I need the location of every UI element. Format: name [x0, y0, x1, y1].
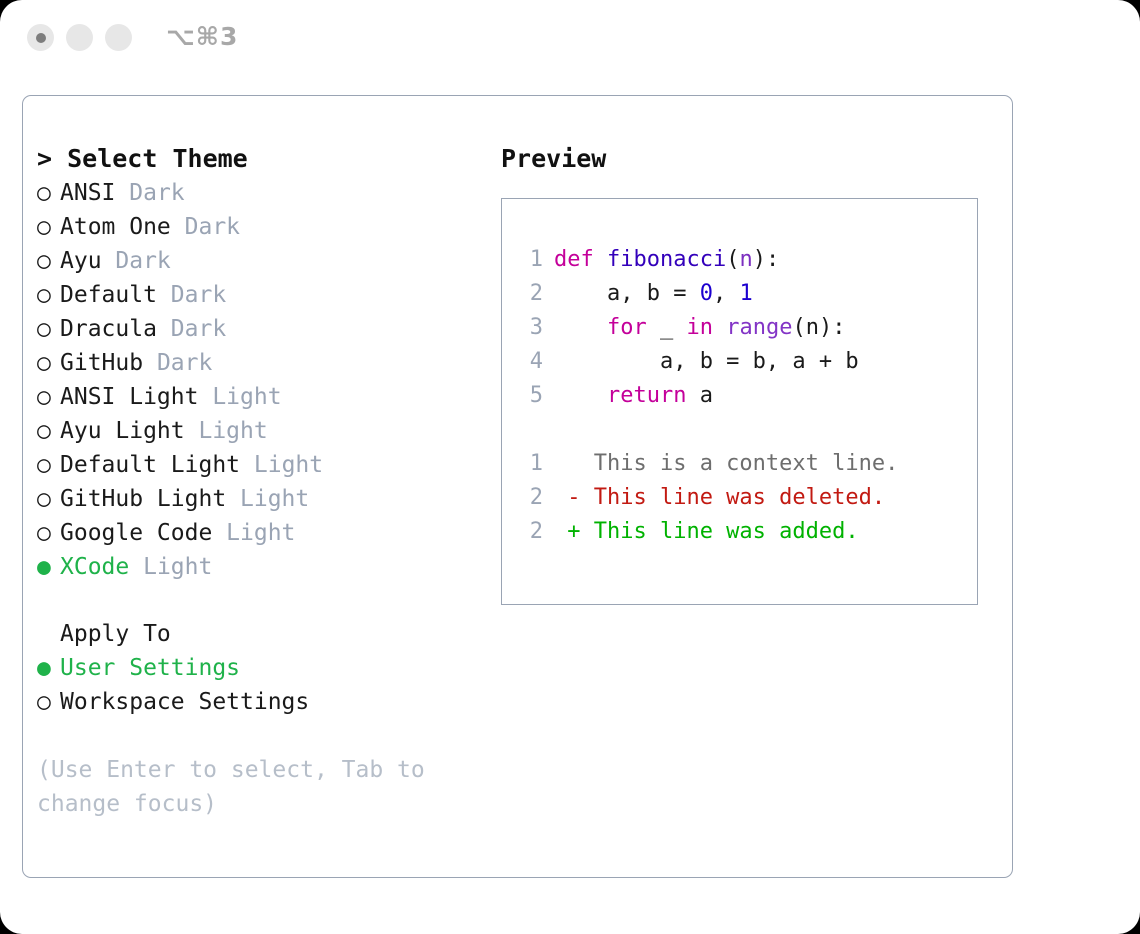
theme-name: GitHub — [60, 346, 157, 380]
code-token: fibonacci — [607, 247, 726, 272]
radio-unselected-icon: ○ — [37, 346, 60, 380]
theme-list-item[interactable]: ○ANSI Dark — [37, 176, 507, 210]
theme-variant: Light — [198, 414, 267, 448]
radio-unselected-icon: ○ — [37, 312, 60, 346]
line-number: 2 — [519, 515, 543, 549]
code-token: a, b = b, a + b — [554, 349, 859, 374]
theme-list-item[interactable]: ○Ayu Dark — [37, 244, 507, 278]
diff-line: 2 - This line was deleted. — [519, 481, 971, 515]
theme-name: Default Light — [60, 448, 254, 482]
theme-variant: Light — [240, 482, 309, 516]
app-window: ⌥⌘3 > Select Theme ○ANSI Dark○Atom One D… — [0, 0, 1140, 934]
window-minimize-dot[interactable] — [66, 24, 93, 51]
code-token: in — [686, 315, 713, 340]
apply-to-section: Apply To ●User Settings○Workspace Settin… — [37, 617, 507, 719]
code-line-text: for _ in range(n): — [554, 311, 845, 345]
code-token: , — [713, 281, 740, 306]
code-line-text: a, b = b, a + b — [554, 345, 859, 379]
radio-unselected-icon: ○ — [37, 244, 60, 278]
code-line: 4 a, b = b, a + b — [519, 345, 971, 379]
diff-line-text: + This line was added. — [554, 515, 859, 549]
apply-to-label: Workspace Settings — [60, 685, 309, 719]
theme-list-item[interactable]: ○Ayu Light Light — [37, 414, 507, 448]
radio-unselected-icon: ○ — [37, 414, 60, 448]
code-token: range — [726, 315, 792, 340]
code-token: 1 — [739, 281, 752, 306]
line-number: 1 — [519, 243, 543, 277]
diff-line: 1 This is a context line. — [519, 447, 971, 481]
theme-name: GitHub Light — [60, 482, 240, 516]
theme-name: XCode — [60, 550, 143, 584]
apply-to-heading: Apply To — [37, 617, 507, 651]
line-number: 3 — [519, 311, 543, 345]
theme-variant: Dark — [185, 210, 240, 244]
code-line: 2 a, b = 0, 1 — [519, 277, 971, 311]
theme-name: ANSI Light — [60, 380, 212, 414]
theme-variant: Light — [143, 550, 212, 584]
apply-to-option[interactable]: ○Workspace Settings — [37, 685, 507, 719]
theme-picker-panel: > Select Theme ○ANSI Dark○Atom One Dark○… — [22, 95, 1013, 878]
theme-list-item[interactable]: ●XCode Light — [37, 550, 507, 584]
theme-list-item[interactable]: ○Atom One Dark — [37, 210, 507, 244]
theme-list-item[interactable]: ○Default Light Light — [37, 448, 507, 482]
code-line-text: return a — [554, 379, 713, 413]
line-number: 2 — [519, 481, 543, 515]
line-number: 5 — [519, 379, 543, 413]
code-token — [713, 315, 726, 340]
theme-selection-column: > Select Theme ○ANSI Dark○Atom One Dark○… — [37, 142, 507, 821]
preview-heading: Preview — [501, 142, 1001, 176]
diff-line: 2 + This line was added. — [519, 515, 971, 549]
theme-variant: Dark — [115, 244, 170, 278]
theme-variant: Light — [226, 516, 295, 550]
apply-to-label: User Settings — [60, 651, 240, 685]
theme-name: Ayu — [60, 244, 115, 278]
code-line: 1def fibonacci(n): — [519, 243, 971, 277]
radio-unselected-icon: ○ — [37, 482, 60, 516]
code-token: for — [607, 315, 647, 340]
code-token — [554, 315, 607, 340]
theme-variant: Light — [254, 448, 323, 482]
theme-name: Default — [60, 278, 171, 312]
theme-name: Atom One — [60, 210, 185, 244]
title-bar: ⌥⌘3 — [0, 0, 1140, 78]
code-sample: 1def fibonacci(n):2 a, b = 0, 13 for _ i… — [519, 243, 971, 413]
radio-unselected-icon: ○ — [37, 278, 60, 312]
theme-list[interactable]: ○ANSI Dark○Atom One Dark○Ayu Dark○Defaul… — [37, 176, 507, 584]
radio-unselected-icon: ○ — [37, 685, 60, 719]
line-number: 2 — [519, 277, 543, 311]
preview-box: 1def fibonacci(n):2 a, b = 0, 13 for _ i… — [501, 198, 978, 605]
keyboard-hint-text: (Use Enter to select, Tab to change focu… — [37, 753, 457, 821]
theme-name: Google Code — [60, 516, 226, 550]
radio-unselected-icon: ○ — [37, 380, 60, 414]
code-token: a, b = — [554, 281, 700, 306]
radio-unselected-icon: ○ — [37, 448, 60, 482]
code-token: ): — [753, 247, 780, 272]
apply-to-options[interactable]: ●User Settings○Workspace Settings — [37, 651, 507, 719]
theme-variant: Dark — [129, 176, 184, 210]
radio-unselected-icon: ○ — [37, 516, 60, 550]
code-line: 3 for _ in range(n): — [519, 311, 971, 345]
preview-spacer — [519, 413, 971, 447]
code-token: (n): — [792, 315, 845, 340]
line-number: 1 — [519, 447, 543, 481]
code-line-text: def fibonacci(n): — [554, 243, 779, 277]
theme-list-item[interactable]: ○GitHub Light Light — [37, 482, 507, 516]
window-close-dot[interactable] — [27, 24, 54, 51]
code-token: 0 — [700, 281, 713, 306]
select-theme-heading: > Select Theme — [37, 142, 507, 176]
theme-name: Ayu Light — [60, 414, 198, 448]
record-indicator-icon — [36, 33, 46, 43]
apply-to-option[interactable]: ●User Settings — [37, 651, 507, 685]
theme-list-item[interactable]: ○Dracula Dark — [37, 312, 507, 346]
radio-selected-icon: ● — [37, 651, 60, 685]
code-token — [554, 383, 607, 408]
window-maximize-dot[interactable] — [105, 24, 132, 51]
code-token: _ — [647, 315, 687, 340]
theme-variant: Dark — [171, 312, 226, 346]
line-number: 4 — [519, 345, 543, 379]
theme-variant: Dark — [171, 278, 226, 312]
diff-line-text: - This line was deleted. — [554, 481, 885, 515]
diff-line-text: This is a context line. — [554, 447, 898, 481]
theme-list-item[interactable]: ○Google Code Light — [37, 516, 507, 550]
theme-variant: Light — [212, 380, 281, 414]
code-line-text: a, b = 0, 1 — [554, 277, 753, 311]
preview-column: Preview 1def fibonacci(n):2 a, b = 0, 13… — [501, 142, 1001, 605]
diff-sample: 1 This is a context line.2 - This line w… — [519, 447, 971, 549]
theme-name: ANSI — [60, 176, 129, 210]
radio-unselected-icon: ○ — [37, 210, 60, 244]
code-preview: 1def fibonacci(n):2 a, b = 0, 13 for _ i… — [519, 243, 971, 549]
code-token: return — [607, 383, 686, 408]
theme-list-item[interactable]: ○GitHub Dark — [37, 346, 507, 380]
theme-list-item[interactable]: ○Default Dark — [37, 278, 507, 312]
theme-variant: Dark — [157, 346, 212, 380]
code-token: a — [686, 383, 713, 408]
traffic-light-buttons — [27, 24, 132, 51]
code-token: n — [739, 247, 752, 272]
code-line: 5 return a — [519, 379, 971, 413]
code-token: ( — [726, 247, 739, 272]
theme-list-item[interactable]: ○ANSI Light Light — [37, 380, 507, 414]
code-token: def — [554, 247, 607, 272]
keyboard-shortcut-label: ⌥⌘3 — [166, 22, 238, 51]
radio-selected-icon: ● — [37, 550, 60, 584]
theme-name: Dracula — [60, 312, 171, 346]
radio-unselected-icon: ○ — [37, 176, 60, 210]
